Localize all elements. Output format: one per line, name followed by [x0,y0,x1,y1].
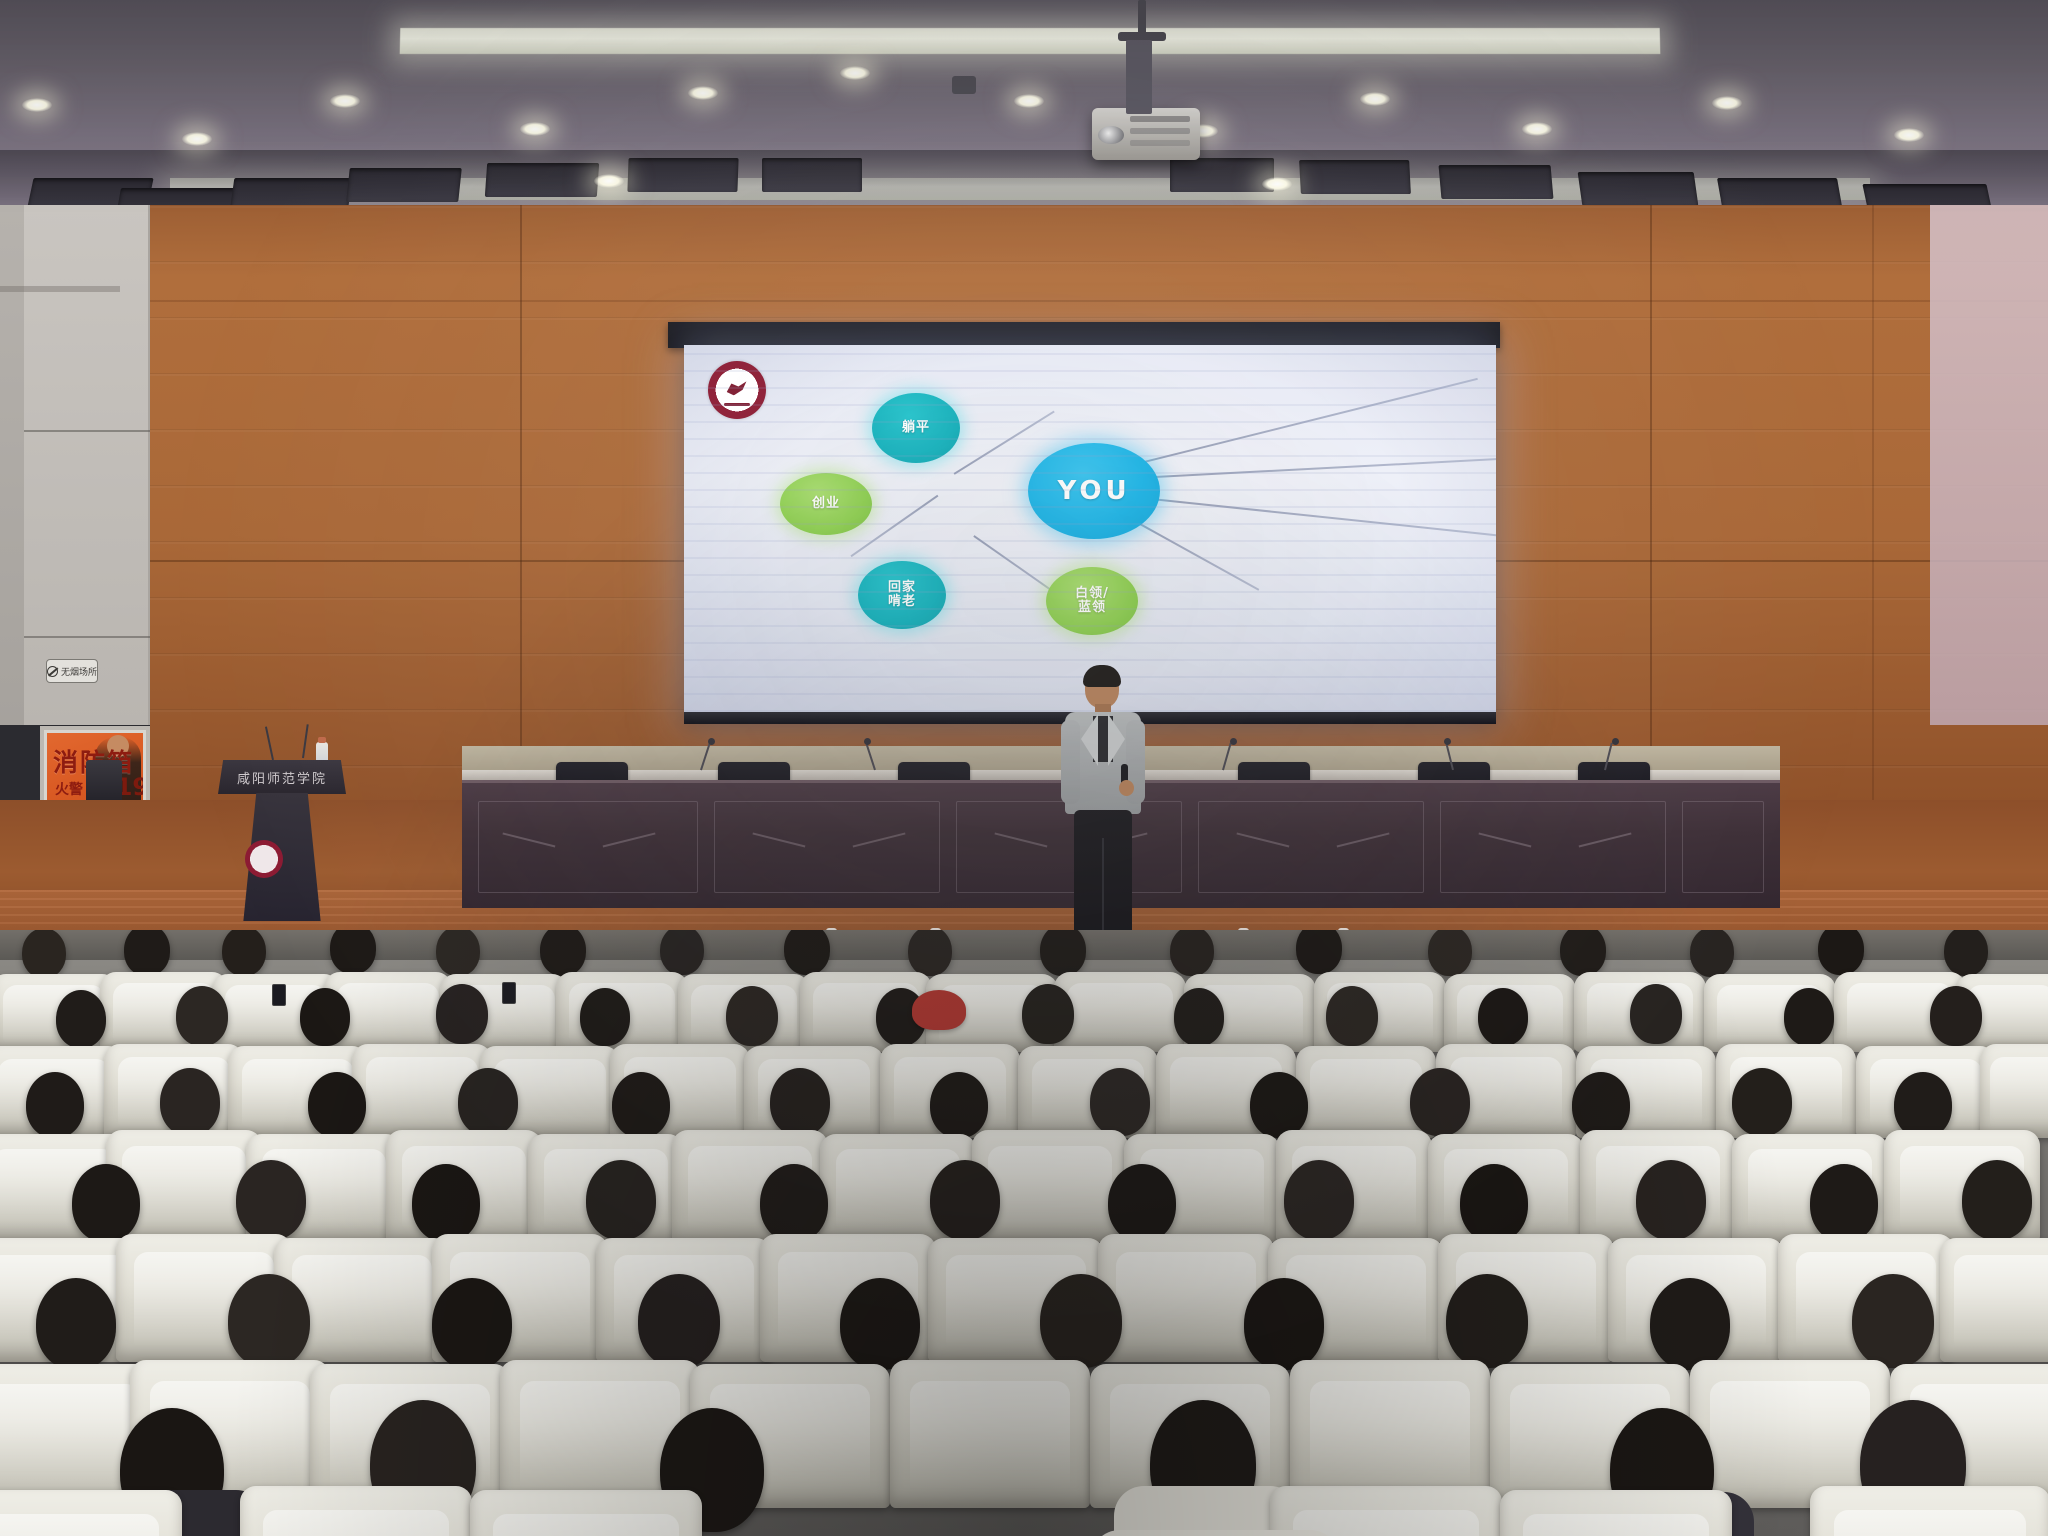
mindmap-node-bailing-lanling[interactable]: 白领/ 蓝领 [1046,567,1138,635]
projector-mount-arm [1126,40,1152,114]
projector-mount-rod [1138,0,1146,34]
presenter-leg-split [1102,838,1104,938]
audience-seat [890,1360,1090,1508]
audience-head [176,986,228,1046]
audience-seat [1810,1486,2048,1536]
audience-head [760,1164,828,1242]
ceiling-vent [627,158,738,192]
ceiling-vent [485,163,599,197]
audience-head [1930,986,1982,1046]
audience-head [1572,1072,1630,1138]
audience-head [1284,1160,1354,1240]
audience-head [540,930,586,976]
audience-head [228,1274,310,1368]
audience-seat [240,1486,472,1536]
audience-head [930,1160,1000,1240]
audience-head [160,1068,220,1136]
ceiling-vent [762,158,862,192]
audience-head [1460,1164,1528,1242]
fire-alarm-label: 火警 [55,779,83,799]
table-microphone-head [708,738,715,745]
audience-head [26,1072,84,1138]
audience-head [1630,984,1682,1044]
audience-head [432,1278,512,1370]
projector-lens-icon [1098,126,1124,144]
no-smoking-icon [47,666,58,677]
audience-head [1244,1278,1324,1370]
water-bottle-cap [318,737,326,743]
audience-head [908,930,952,976]
audience-seat [1940,1238,2048,1362]
audience-head [660,930,704,975]
speaker-stand-top [86,760,122,804]
mindmap-node-tangping[interactable]: 躺平 [872,393,960,463]
audience-head [1962,1160,2032,1240]
audience-head [580,988,630,1046]
audience-head [300,988,350,1046]
table-microphone-head [1612,738,1619,745]
ceiling-vent [1170,158,1274,192]
mindmap-connector [1142,497,1496,536]
left-wall-edge [0,205,24,725]
ceiling-downlight [1262,177,1292,191]
audience-head [436,984,488,1044]
audience-head [330,930,376,974]
audience-head [1944,930,1988,976]
audience-head [840,1278,920,1370]
presenter-hand [1119,780,1134,796]
mindmap-node-huijia-kenlao[interactable]: 回家 啃老 [858,561,946,629]
audience-head [1810,1164,1878,1242]
audience-head [1410,1068,1470,1136]
audience-head [1732,1068,1792,1136]
audience-head [1690,930,1734,977]
ceiling-light-strip [400,28,1661,54]
ceiling-camera-icon [952,76,976,94]
presenter-hair [1083,665,1121,687]
table-microphone-head [1444,738,1451,745]
audience-area [0,930,2048,1536]
audience-head [56,990,106,1048]
audience-head [412,1164,480,1242]
ceiling-downlight [22,98,52,112]
audience-head [1852,1274,1934,1368]
audience-head [726,986,778,1046]
mindmap-connector [1136,378,1478,465]
audience-head [1090,1068,1150,1136]
audience-head [770,1068,830,1136]
audience-head [1784,988,1834,1046]
audience-head [458,1068,518,1136]
ceiling-downlight [1360,92,1390,106]
audience-head [1818,930,1864,975]
audience-head [612,1072,670,1138]
ceiling-downlight [840,66,870,80]
audience-head [1108,1164,1176,1242]
audience-head [1636,1160,1706,1240]
audience-head [72,1164,140,1242]
table-microphone-head [864,738,871,745]
ceiling-downlight [594,174,624,188]
ceiling-downlight [1712,96,1742,110]
mindmap-node-chuangye[interactable]: 创业 [780,473,872,535]
ceiling-downlight [520,122,550,136]
presenter [1055,668,1151,958]
audience-head [1894,1072,1952,1138]
audience-seat [470,1490,702,1536]
audience-head [36,1278,116,1370]
audience-phone [502,982,516,1004]
audience-head [1650,1278,1730,1370]
audience-head [1170,930,1214,976]
ceiling-vent [1299,160,1411,194]
audience-phone [272,984,286,1006]
audience-red-cap [912,990,966,1030]
wood-wall-seam-v [520,205,522,805]
presenter-arm-left [1061,720,1080,804]
podium-top: 咸阳师范学院 [218,760,346,794]
wood-wall-seam-v [1650,205,1652,805]
audience-head [1446,1274,1528,1368]
ceiling-vent [1439,165,1554,199]
audience-head [222,930,266,976]
audience-head [1560,930,1606,976]
auditorium-photo: 无烟场所 消防箱 火警 119 躺平 创业 [0,0,2048,1536]
audience-head [586,1160,656,1240]
audience-head [436,930,480,976]
no-smoking-label: 无烟场所 [61,665,97,678]
mindmap-connector [1140,523,1260,590]
mindmap-node-you[interactable]: YOU [1028,443,1160,539]
audience-head [124,930,170,976]
ceiling [0,0,2048,208]
audience-head [1326,986,1378,1046]
wood-wall-seam-v [1872,205,1874,805]
ceiling-downlight [1522,122,1552,136]
audience-head [1428,930,1472,976]
audience-head [1174,988,1224,1046]
audience-seat [1270,1486,1502,1536]
ceiling-downlight [688,86,718,100]
audience-head [1296,930,1342,974]
audience-head [1250,1072,1308,1138]
career-mindmap: 躺平 创业 YOU 回家 啃老 白领/ 蓝领 [684,345,1496,720]
audience-head [22,930,66,978]
right-side-wall [1930,205,2048,725]
audience-head [1040,930,1086,976]
audience-head [930,1072,988,1138]
audience-seat [1980,1044,2048,1138]
audience-head [1022,984,1074,1044]
ceiling-downlight [1894,128,1924,142]
projection-screen: 躺平 创业 YOU 回家 啃老 白领/ 蓝领 [684,345,1496,720]
podium-name-plate: 咸阳师范学院 [218,768,346,787]
ceiling-vent [346,168,462,202]
audience-head [1478,988,1528,1046]
wood-wall-seam [150,300,2048,302]
podium-emblem-icon [245,840,283,878]
ceiling-downlight [330,94,360,108]
audience-head [308,1072,366,1138]
no-smoking-sign: 无烟场所 [46,659,98,683]
audience-seat [1500,1490,1732,1536]
audience-shoulders-front [1090,1530,1340,1536]
ceiling-downlight [182,132,212,146]
audience-head [638,1274,720,1368]
ceiling-vent [1578,172,1699,206]
audience-seat [0,1490,182,1536]
audience-head [784,930,830,975]
mindmap-connector [1136,458,1496,479]
table-microphone-head [1230,738,1237,745]
left-wall-trim [0,286,120,292]
audience-head [236,1160,306,1240]
ceiling-downlight [1014,94,1044,108]
ceiling-projector [1092,108,1200,160]
audience-head [1040,1274,1122,1368]
